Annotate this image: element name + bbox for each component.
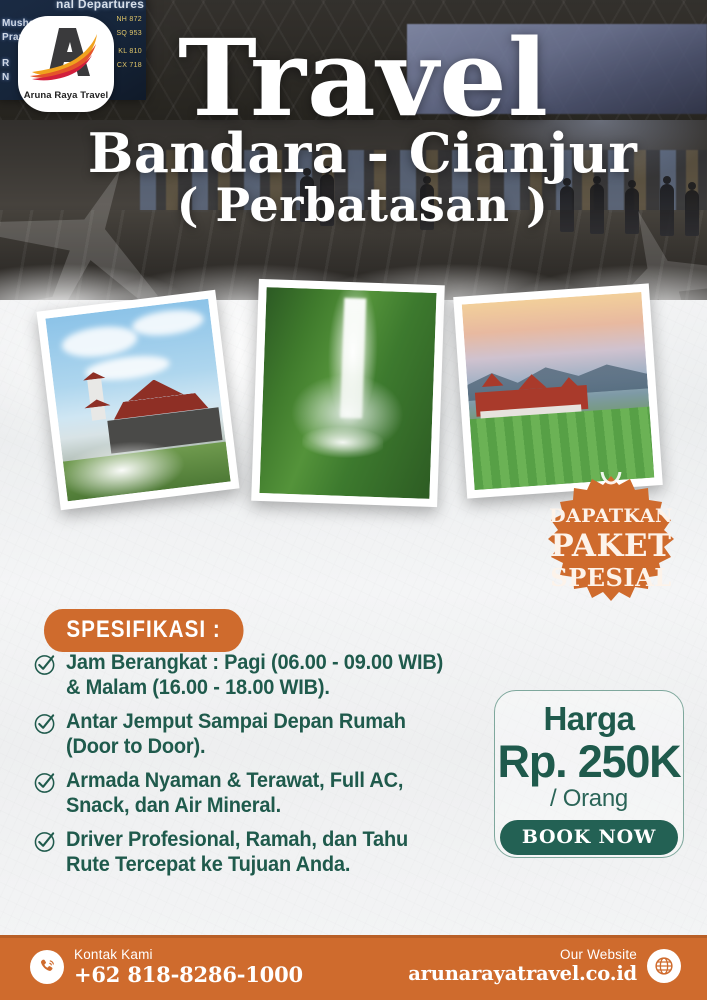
spesifikasi-heading: SPESIFIKASI : [44,609,243,652]
phone-icon [30,950,64,984]
spec-item-text: Driver Profesional, Ramah, dan Tahu Rute… [66,827,455,877]
footer-contact[interactable]: Kontak Kami +62 818-8286-1000 [30,948,303,986]
check-circle-icon [34,712,57,735]
photo-card-mosque-aerial [453,283,663,498]
badge-line-1: DAPATKAN [549,507,673,526]
spec-item-text: Jam Berangkat : Pagi (06.00 - 09.00 WIB)… [66,650,455,700]
spec-item: Driver Profesional, Ramah, dan Tahu Rute… [32,827,484,877]
badge-line-3: SPESIAL [550,566,671,590]
contact-label: Kontak Kami [74,948,303,963]
special-package-badge: DAPATKAN PAKET SPESIAL [535,472,687,624]
check-circle-icon [34,771,57,794]
check-circle-icon [34,830,57,853]
spesifikasi-list: Jam Berangkat : Pagi (06.00 - 09.00 WIB)… [32,650,484,886]
photo-card-waterfall [251,279,445,507]
spec-item: Antar Jemput Sampai Depan Rumah (Door to… [32,709,484,759]
spec-item-text: Antar Jemput Sampai Depan Rumah (Door to… [66,709,455,759]
spec-item-text: Armada Nyaman & Terawat, Full AC, Snack,… [66,768,455,818]
price-card: Harga Rp. 250K / Orang BOOK NOW [494,690,684,858]
website-label: Our Website [408,948,637,963]
title-line-perbatasan: ( Perbatasan ) [18,182,707,228]
aruna-raya-travel-logo-icon [18,20,114,84]
price-unit: / Orang [495,785,683,813]
globe-icon [647,949,681,983]
brand-logo: Aruna Raya Travel [18,16,114,112]
contact-phone[interactable]: +62 818-8286-1000 [74,964,303,986]
website-url[interactable]: arunarayatravel.co.id [408,964,637,984]
spec-item: Armada Nyaman & Terawat, Full AC, Snack,… [32,768,484,818]
travel-poster: nal Departures Mushola Prayer R N NH 872… [0,0,707,1000]
photo-card-mosque [36,290,239,510]
book-now-button[interactable]: BOOK NOW [500,820,678,855]
price-label: Harga [495,700,683,738]
badge-line-2: PAKET [550,531,671,562]
logo-wordmark: Aruna Raya Travel [18,90,114,101]
check-circle-icon [34,653,57,676]
price-amount: Rp. 250K [495,736,683,788]
footer-website[interactable]: Our Website arunarayatravel.co.id [408,948,681,984]
title-line-route: Bandara - Cianjur [18,126,707,180]
title-line-travel: Travel [20,26,707,130]
spec-item: Jam Berangkat : Pagi (06.00 - 09.00 WIB)… [32,650,484,700]
footer-bar: Kontak Kami +62 818-8286-1000 Our Websit… [0,938,707,1000]
